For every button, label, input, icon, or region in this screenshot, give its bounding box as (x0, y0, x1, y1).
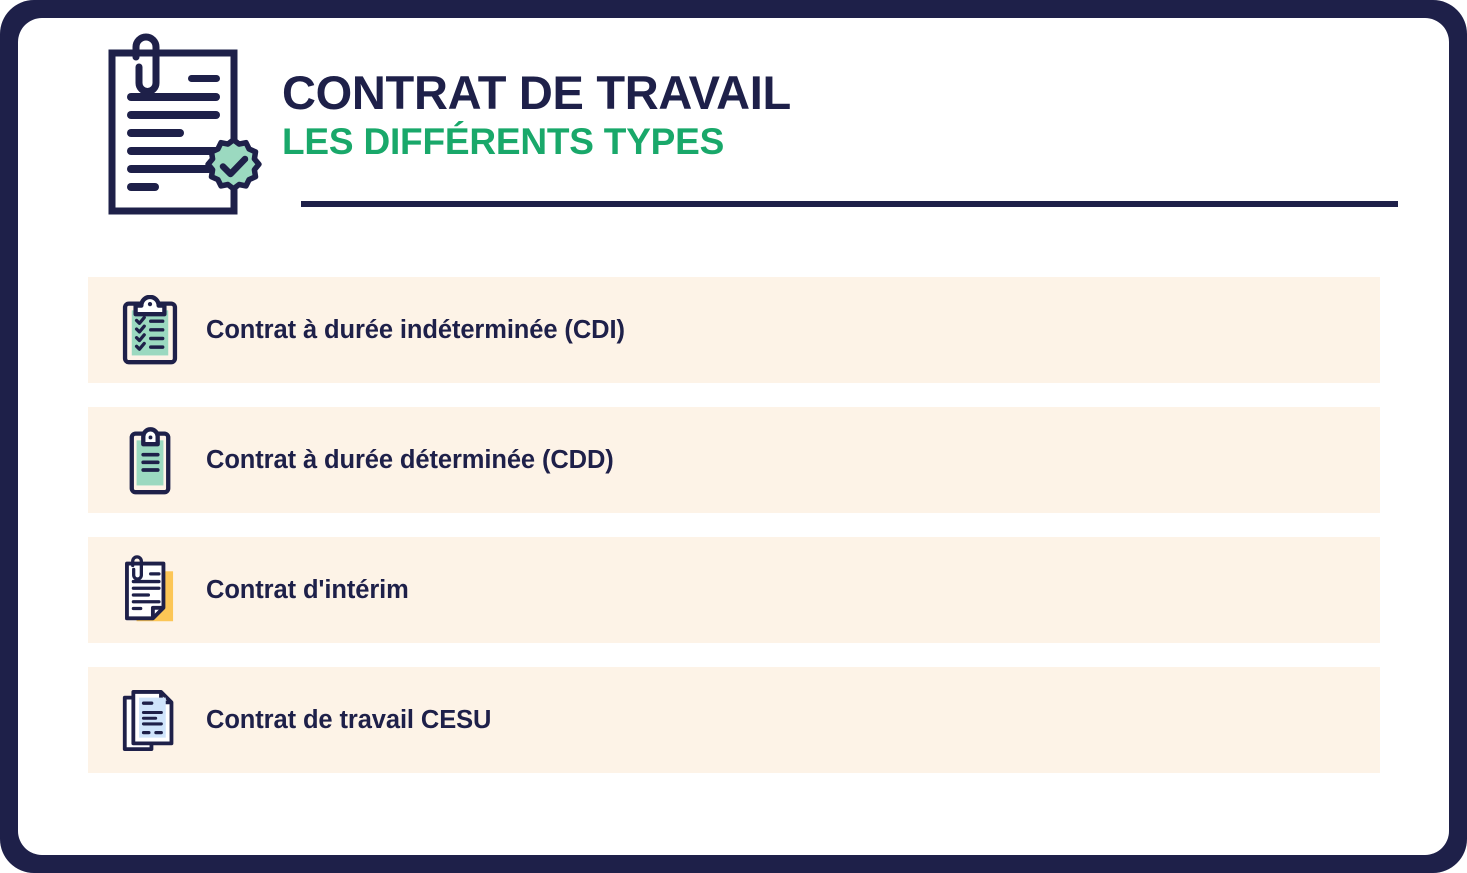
header: CONTRAT DE TRAVAIL LES DIFFÉRENTS TYPES (18, 18, 1449, 263)
contract-document-with-verified-badge-icon (102, 31, 270, 236)
list-item-label: Contrat de travail CESU (206, 706, 491, 735)
list-item[interactable]: Contrat à durée indéterminée (CDI) (88, 277, 1380, 383)
list-item[interactable]: Contrat d'intérim (88, 537, 1380, 643)
infographic-card: CONTRAT DE TRAVAIL LES DIFFÉRENTS TYPES (18, 18, 1449, 855)
list-item[interactable]: Contrat de travail CESU (88, 667, 1380, 773)
header-text: CONTRAT DE TRAVAIL LES DIFFÉRENTS TYPES (282, 66, 791, 164)
stacked-documents-blue-icon (104, 684, 196, 757)
clipboard-checklist-icon (104, 295, 196, 366)
page-subtitle: LES DIFFÉRENTS TYPES (282, 121, 791, 164)
list-item-label: Contrat à durée déterminée (CDD) (206, 446, 614, 475)
infographic-frame: CONTRAT DE TRAVAIL LES DIFFÉRENTS TYPES (0, 0, 1467, 873)
page-title: CONTRAT DE TRAVAIL (282, 66, 791, 119)
list-item-label: Contrat à durée indéterminée (CDI) (206, 316, 625, 345)
contract-types-list: Contrat à durée indéterminée (CDI) (88, 277, 1380, 797)
list-item[interactable]: Contrat à durée déterminée (CDD) (88, 407, 1380, 513)
title-divider (301, 201, 1398, 207)
clipped-document-yellow-icon (104, 554, 196, 627)
clipboard-lines-icon (104, 425, 196, 496)
list-item-label: Contrat d'intérim (206, 576, 409, 605)
